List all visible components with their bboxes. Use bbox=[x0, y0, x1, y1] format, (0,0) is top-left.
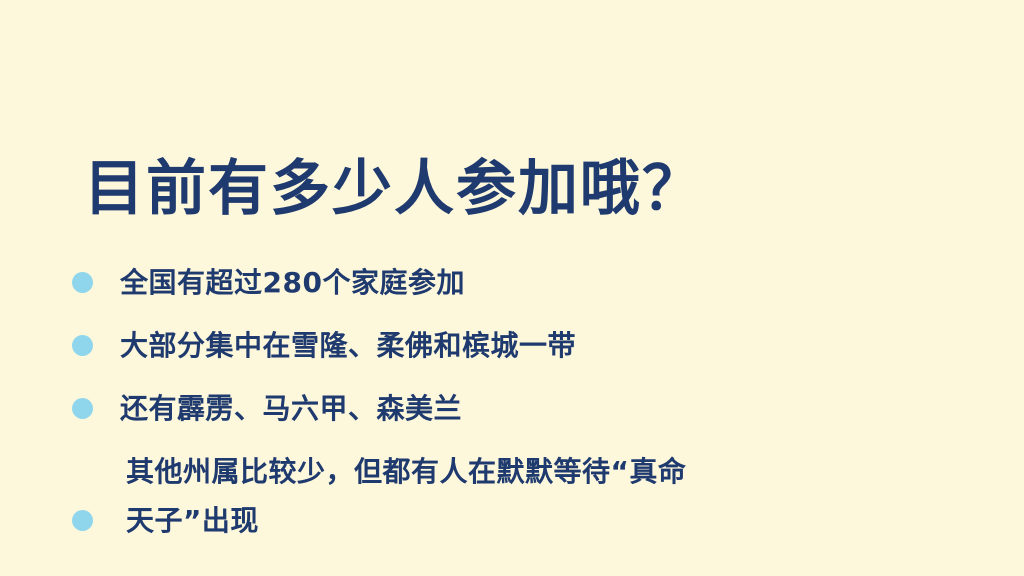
slide-canvas: 目前有多少人参加哦？ 全国有超过280个家庭参加 大部分集中在雪隆、柔佛和槟城一… bbox=[0, 0, 1024, 576]
list-item: 大部分集中在雪隆、柔佛和槟城一带 bbox=[72, 321, 972, 370]
bullet-dot-icon bbox=[72, 335, 93, 356]
bullet-text: 全国有超过280个家庭参加 bbox=[120, 258, 972, 307]
list-item: 其他州属比较少，但都有人在默默等待“真命 天子”出现 bbox=[72, 447, 972, 545]
bullet-text: 大部分集中在雪隆、柔佛和槟城一带 bbox=[120, 321, 972, 370]
bullet-dot-icon bbox=[72, 510, 93, 531]
list-item: 全国有超过280个家庭参加 bbox=[72, 258, 972, 307]
bullet-dot-icon bbox=[72, 272, 93, 293]
bullet-text-line-2: 天子”出现 bbox=[126, 496, 972, 545]
bullet-text: 还有霹雳、马六甲、森美兰 bbox=[120, 384, 972, 433]
bullet-dot-icon bbox=[72, 398, 93, 419]
list-item: 还有霹雳、马六甲、森美兰 bbox=[72, 384, 972, 433]
bullet-list: 全国有超过280个家庭参加 大部分集中在雪隆、柔佛和槟城一带 还有霹雳、马六甲、… bbox=[72, 258, 972, 559]
bullet-text: 其他州属比较少，但都有人在默默等待“真命 天子”出现 bbox=[120, 447, 972, 545]
bullet-text-line-1: 其他州属比较少，但都有人在默默等待“真命 bbox=[126, 455, 686, 488]
page-title: 目前有多少人参加哦？ bbox=[84, 152, 704, 226]
